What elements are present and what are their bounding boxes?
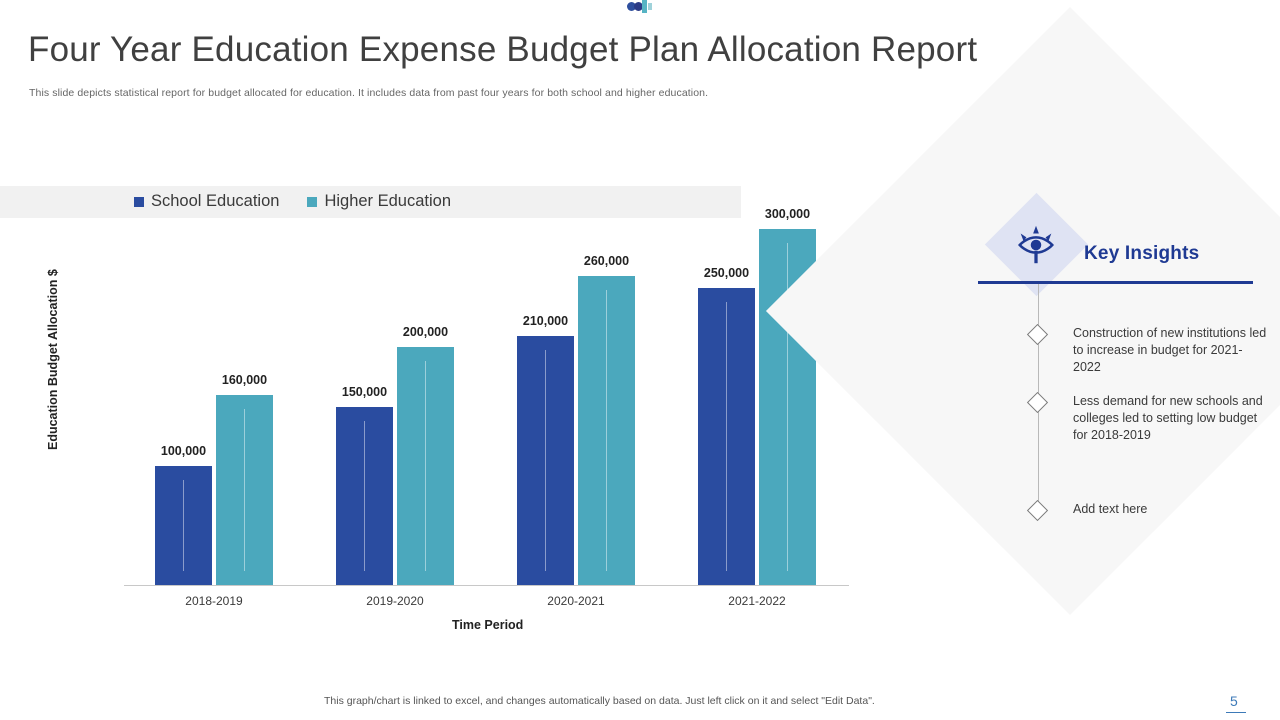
plot-area: 100,000160,000150,000200,000210,000260,0…: [124, 205, 849, 585]
insight-text-2: Less demand for new schools and colleges…: [1073, 393, 1268, 444]
slide-marker-icon: [627, 0, 653, 13]
bar-value-label: 150,000: [330, 385, 399, 399]
bar-2018-2019-higher: [216, 395, 273, 585]
insights-divider: [978, 281, 1253, 284]
insight-item-2: Less demand for new schools and colleges…: [1030, 393, 1268, 444]
bar-value-label: 250,000: [692, 266, 761, 280]
x-axis-tick-2019-2020: 2019-2020: [316, 594, 474, 608]
bar-chart: School Education Higher Education Educat…: [0, 150, 860, 660]
diamond-bullet-icon: [1027, 500, 1048, 521]
bar-2020-2021-higher: [578, 276, 635, 585]
x-axis-tick-2020-2021: 2020-2021: [497, 594, 655, 608]
bar-value-label: 260,000: [572, 254, 641, 268]
insight-text-3: Add text here: [1073, 501, 1268, 518]
x-axis-tick-2018-2019: 2018-2019: [135, 594, 293, 608]
chart-footnote: This graph/chart is linked to excel, and…: [324, 695, 875, 707]
bar-2018-2019-school: [155, 466, 212, 585]
page-title: Four Year Education Expense Budget Plan …: [28, 30, 977, 70]
insight-item-1: Construction of new institutions led to …: [1030, 325, 1268, 376]
bar-2020-2021-school: [517, 336, 574, 585]
insight-item-3: Add text here: [1030, 501, 1268, 518]
x-axis-tick-2021-2022: 2021-2022: [678, 594, 836, 608]
eye-target-icon: [1013, 222, 1059, 268]
page-subtitle: This slide depicts statistical report fo…: [29, 87, 708, 99]
insight-text-1: Construction of new institutions led to …: [1073, 325, 1268, 376]
marker-bar-light: [648, 3, 652, 10]
bar-value-label: 300,000: [753, 207, 822, 221]
bar-value-label: 210,000: [511, 314, 580, 328]
bar-highlight: [183, 480, 184, 571]
x-axis-line: [124, 585, 849, 586]
diamond-bullet-icon: [1027, 324, 1048, 345]
bar-2019-2020-higher: [397, 347, 454, 585]
x-axis-title: Time Period: [452, 618, 523, 632]
bar-highlight: [606, 290, 607, 571]
insights-title: Key Insights: [1084, 243, 1199, 265]
bar-value-label: 160,000: [210, 373, 279, 387]
bar-highlight: [726, 302, 727, 571]
bar-value-label: 200,000: [391, 325, 460, 339]
bar-2021-2022-school: [698, 288, 755, 585]
page-number: 5: [1230, 693, 1238, 709]
bar-highlight: [545, 350, 546, 571]
bar-highlight: [244, 409, 245, 571]
page-number-rule: [1226, 712, 1246, 713]
bar-highlight: [425, 361, 426, 571]
bar-2019-2020-school: [336, 407, 393, 585]
marker-bar-teal: [642, 0, 647, 13]
diamond-bullet-icon: [1027, 392, 1048, 413]
bar-highlight: [364, 421, 365, 571]
bar-value-label: 100,000: [149, 444, 218, 458]
y-axis-title: Education Budget Allocation $: [46, 269, 60, 450]
